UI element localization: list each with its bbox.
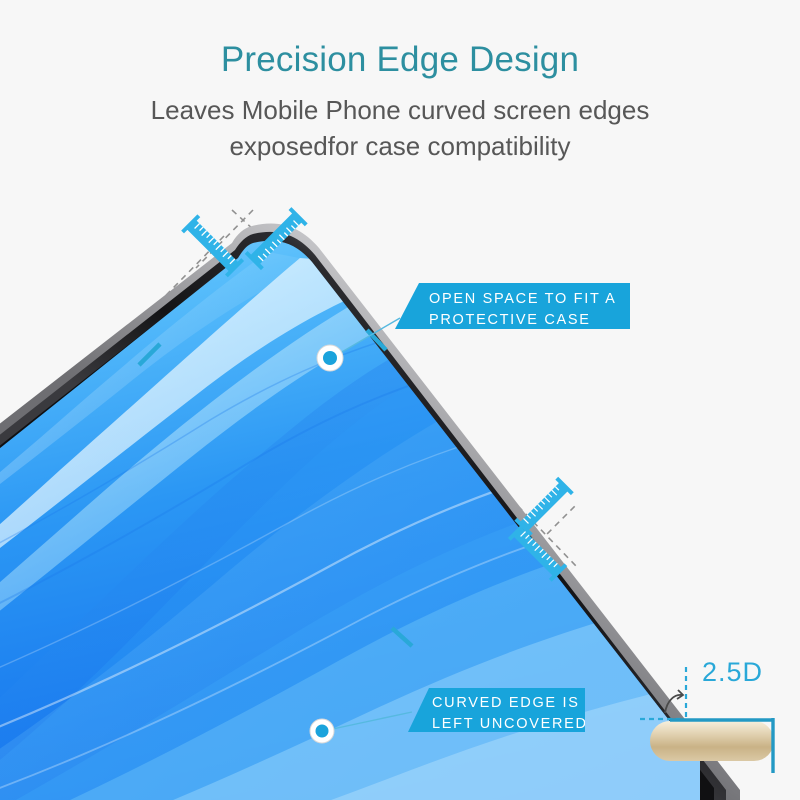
header-block: Precision Edge Design Leaves Mobile Phon… — [0, 0, 800, 165]
callout-open-space-line-2: PROTECTIVE CASE — [429, 310, 630, 331]
callout-curved-edge: CURVED EDGE IS LEFT UNCOVERED — [408, 688, 585, 732]
callout-open-space-line-1: OPEN SPACE TO FIT A — [429, 289, 630, 310]
edge-diagram-label: 2.5D — [702, 657, 763, 688]
callout-curved-edge-line-1: CURVED EDGE IS — [432, 693, 585, 714]
curve-arrow-icon — [665, 690, 683, 713]
page-title: Precision Edge Design — [0, 0, 800, 80]
callout-open-space: OPEN SPACE TO FIT A PROTECTIVE CASE — [395, 283, 630, 329]
callout-curved-edge-line-2: LEFT UNCOVERED — [432, 714, 585, 735]
edge-cross-section-diagram: 2.5D — [640, 655, 800, 800]
edge-bar-shape — [650, 721, 774, 761]
page-subtitle: Leaves Mobile Phone curved screen edges … — [0, 80, 800, 165]
product-feature-image: Precision Edge Design Leaves Mobile Phon… — [0, 0, 800, 800]
subtitle-line-2: exposedfor case compatibility — [229, 131, 570, 161]
subtitle-line-1: Leaves Mobile Phone curved screen edges — [151, 95, 650, 125]
callout-marker-icon-bottom — [310, 719, 334, 743]
callout-marker-icon-top — [317, 345, 343, 371]
